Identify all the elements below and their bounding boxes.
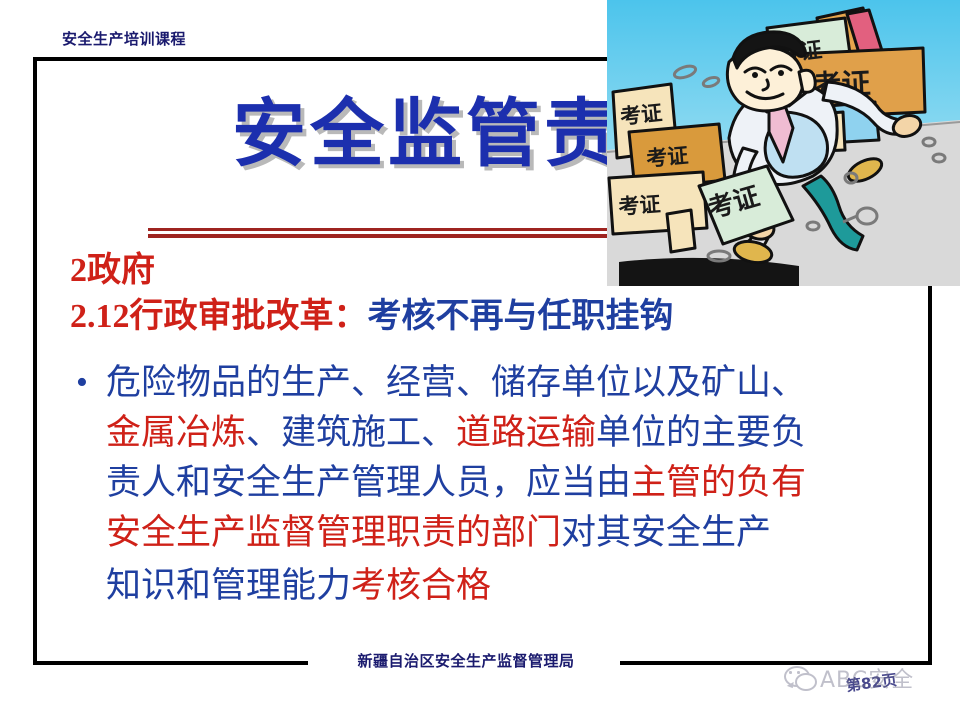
paragraph-line: 金属冶炼、建筑施工、道路运输单位的主要负 [106,408,806,458]
paragraph-line: 知识和管理能力考核合格 [106,558,806,614]
bullet-marker: • [70,358,106,408]
paragraph-line: 责人和安全生产管理人员，应当由主管的负有 [106,458,806,508]
paragraph-segment: 责人和安全生产管理人员，应当由 [106,463,631,502]
slide-canvas: 安全生产培训课程 安全监管责任 2政府 2.12行政审批改革：考核不再与任职挂钩… [0,0,960,720]
heading-level-2: 2.12行政审批改革：考核不再与任职挂钩 [70,294,930,340]
svg-text:考证: 考证 [619,101,663,129]
heading-level-2-red: 2.12行政审批改革： [70,298,368,335]
paragraph-segment: 道路运输 [456,413,596,452]
paragraph-segment: 危险物品的生产、经营、储存单位以及矿山、 [106,363,806,402]
paragraph-segment: 安全生产监督管理职责的部门 [106,513,561,552]
bullet-paragraph: • 危险物品的生产、经营、储存单位以及矿山、金属冶炼、建筑施工、道路运输单位的主… [70,358,950,614]
paragraph-segment: 单位的主要负 [596,413,806,452]
paragraph-line: 危险物品的生产、经营、储存单位以及矿山、 [106,358,806,408]
page-number: 第82页 [845,669,898,696]
paragraph-segment: 考核合格 [351,566,491,605]
paragraph-segment: 主管的负有 [631,463,806,502]
paragraph-segment: 知识和管理能力 [106,566,351,605]
paragraph-segment: 、建筑施工、 [246,413,456,452]
svg-text:考证: 考证 [645,143,689,171]
footer-organization: 新疆自治区安全生产监督管理局 [0,650,932,671]
paragraph-segment: 对其安全生产 [561,513,771,552]
svg-text:考证: 考证 [618,192,662,219]
course-kicker: 安全生产培训课程 [62,28,186,49]
paragraph-text: 危险物品的生产、经营、储存单位以及矿山、金属冶炼、建筑施工、道路运输单位的主要负… [106,358,806,614]
illustration-image: 考证 考证 考证 考证 考证 [607,0,960,286]
heading-level-2-blue: 考核不再与任职挂钩 [368,298,674,335]
paragraph-segment: 金属冶炼 [106,413,246,452]
paragraph-line: 安全生产监督管理职责的部门对其安全生产 [106,508,806,558]
